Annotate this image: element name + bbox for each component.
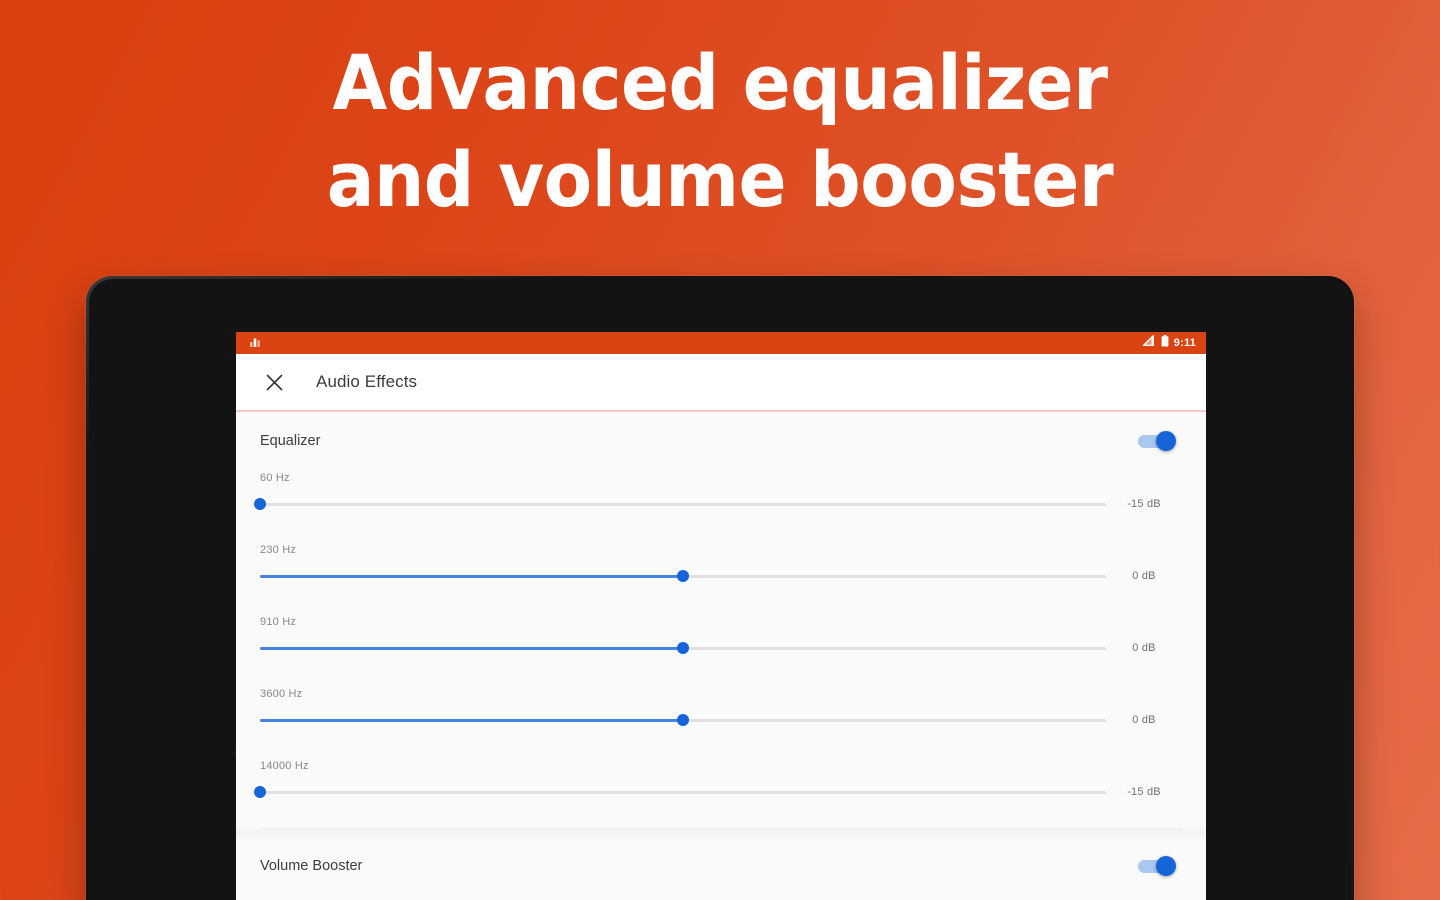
eq-band-row: 0 dB <box>260 566 1182 586</box>
app-bar: Audio Effects <box>236 354 1206 412</box>
eq-band-value: 0 dB <box>1106 570 1182 582</box>
eq-band-row: -15 dB <box>260 782 1182 802</box>
slider-thumb[interactable] <box>254 786 266 798</box>
slider-thumb[interactable] <box>677 642 689 654</box>
eq-band-value: 0 dB <box>1106 714 1182 726</box>
slider-fill <box>260 719 683 722</box>
spacer <box>260 730 1182 758</box>
eq-band-label: 14000 Hz <box>260 760 1182 772</box>
eq-band-3600hz: 3600 Hz 0 dB <box>260 686 1182 730</box>
slider-thumb[interactable] <box>254 498 266 510</box>
spacer <box>260 658 1182 686</box>
eq-band-60hz: 60 Hz -15 dB <box>260 470 1182 514</box>
slider-fill <box>260 575 683 578</box>
eq-band-label: 3600 Hz <box>260 688 1182 700</box>
volume-booster-row: 5 dB <box>260 895 1182 900</box>
slider-track <box>260 503 1106 506</box>
eq-band-row: 0 dB <box>260 638 1182 658</box>
slider-thumb[interactable] <box>677 714 689 726</box>
spacer <box>260 586 1182 614</box>
toggle-knob <box>1156 856 1176 876</box>
eq-band-230hz: 230 Hz 0 dB <box>260 542 1182 586</box>
promo-headline-line-2: and volume booster <box>50 131 1389 228</box>
tablet-screen: 9:11 Audio Effects Equalizer 60 Hz <box>236 332 1206 900</box>
section-divider <box>260 828 1182 829</box>
battery-icon <box>1161 334 1169 352</box>
close-button[interactable] <box>261 369 287 395</box>
equalizer-header: Equalizer <box>260 412 1182 470</box>
eq-band-label: 910 Hz <box>260 616 1182 628</box>
eq-band-row: -15 dB <box>260 494 1182 514</box>
status-bar-notifications <box>250 334 262 352</box>
eq-band-value: -15 dB <box>1106 498 1182 510</box>
eq-band-slider[interactable] <box>260 494 1106 514</box>
volume-booster-title: Volume Booster <box>260 858 362 874</box>
eq-band-910hz: 910 Hz 0 dB <box>260 614 1182 658</box>
equalizer-title: Equalizer <box>260 433 320 449</box>
promo-headline: Advanced equalizer and volume booster <box>50 34 1389 229</box>
eq-band-slider[interactable] <box>260 566 1106 586</box>
toggle-knob <box>1156 431 1176 451</box>
slider-fill <box>260 647 683 650</box>
volume-booster-toggle[interactable] <box>1136 856 1182 876</box>
status-bar-clock: 9:11 <box>1174 337 1196 349</box>
eq-band-row: 0 dB <box>260 710 1182 730</box>
status-bar-indicators: 9:11 <box>1142 334 1196 352</box>
slider-track <box>260 791 1106 794</box>
eq-band-slider[interactable] <box>260 638 1106 658</box>
eq-band-label: 230 Hz <box>260 544 1182 556</box>
eq-band-value: -15 dB <box>1106 786 1182 798</box>
equalizer-section: Equalizer 60 Hz -15 dB <box>236 412 1206 829</box>
close-icon <box>266 374 283 391</box>
page-title: Audio Effects <box>316 372 417 392</box>
volume-booster-header: Volume Booster <box>260 837 1182 895</box>
volume-booster-section: Volume Booster 5 dB <box>236 837 1206 900</box>
audio-effects-content: Equalizer 60 Hz -15 dB <box>236 412 1206 900</box>
eq-band-slider[interactable] <box>260 782 1106 802</box>
cellular-signal-icon <box>1142 334 1156 352</box>
promo-headline-line-1: Advanced equalizer <box>50 34 1389 131</box>
equalizer-toggle[interactable] <box>1136 431 1182 451</box>
spacer <box>260 514 1182 542</box>
status-bar: 9:11 <box>236 332 1206 354</box>
eq-band-14000hz: 14000 Hz -15 dB <box>260 758 1182 802</box>
equalizer-notification-icon <box>250 334 262 352</box>
eq-band-slider[interactable] <box>260 710 1106 730</box>
eq-band-label: 60 Hz <box>260 472 1182 484</box>
slider-thumb[interactable] <box>677 570 689 582</box>
section-gap <box>236 829 1206 837</box>
eq-band-value: 0 dB <box>1106 642 1182 654</box>
